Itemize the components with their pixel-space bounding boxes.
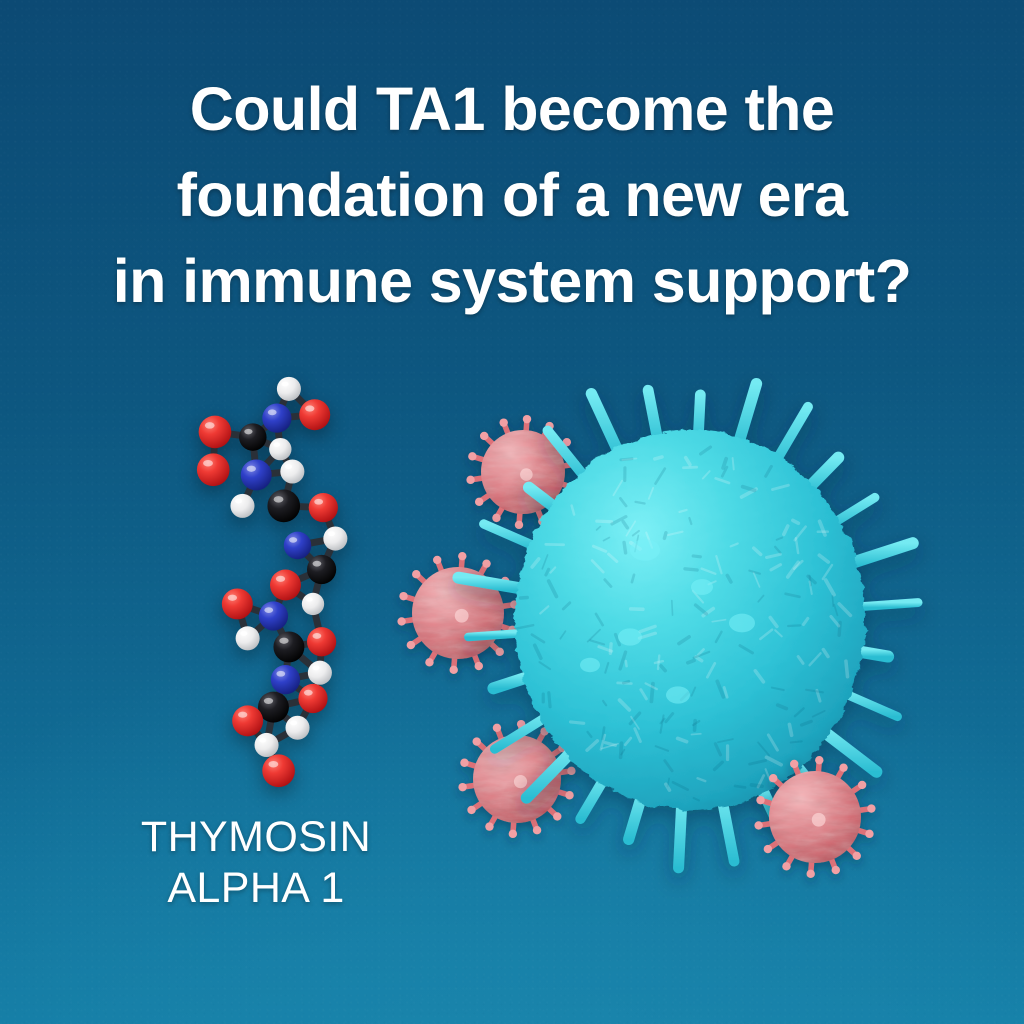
cell-surface-texture: [636, 502, 645, 504]
virus-spike-knob: [567, 767, 575, 775]
virus-spike-knob: [756, 796, 764, 804]
cell-surface-texture: [672, 601, 673, 616]
atom-nitrogen: [262, 404, 291, 433]
atom-hydrogen: [285, 716, 309, 740]
cell-surface-texture: [623, 681, 628, 683]
atom-hydrogen: [236, 626, 260, 650]
atom-highlight: [312, 665, 319, 670]
atom-hydrogen: [230, 494, 254, 518]
headline-line-1: Could TA1 become the: [34, 66, 990, 152]
cell-surface-texture: [621, 459, 632, 460]
atom-highlight: [313, 633, 322, 639]
cell-surface-texture: [624, 542, 626, 552]
cell-surface-texture: [621, 743, 622, 757]
cell-surface-texture: [751, 785, 762, 786]
virus-spike-knob: [458, 783, 466, 791]
virus-surface-nub: [812, 813, 826, 827]
atom-oxygen: [232, 705, 263, 736]
virus-spike-knob: [425, 658, 433, 666]
atom-highlight: [205, 422, 215, 429]
cell-surface-nub: [691, 579, 713, 595]
virus-particle: [754, 756, 875, 878]
virus-spike-knob: [865, 830, 873, 838]
atom-highlight: [240, 631, 247, 636]
atom-oxygen: [197, 453, 230, 486]
cell-surface-texture: [626, 661, 627, 666]
atom-highlight: [279, 638, 288, 644]
atom-oxygen: [309, 493, 338, 522]
virus-spike-knob: [509, 830, 517, 838]
virus-spike-knob: [754, 821, 762, 829]
cell-surface-texture: [688, 660, 694, 662]
cell-surface-nub: [580, 658, 600, 672]
cell-surface-texture: [695, 721, 696, 730]
atom-nitrogen: [284, 532, 312, 560]
virus-spike-knob: [492, 514, 500, 522]
virus-spike-knob: [867, 804, 875, 812]
atom-hydrogen: [255, 733, 279, 757]
virus-spike-knob: [832, 866, 840, 874]
atom-oxygen: [299, 399, 330, 430]
cell-surface-texture: [832, 596, 833, 606]
atom-highlight: [305, 405, 314, 411]
virus-spike-knob: [473, 737, 481, 745]
atom-oxygen: [262, 754, 295, 787]
thymosin-alpha-1-molecule-icon: [150, 370, 390, 800]
atom-highlight: [235, 499, 242, 504]
cell-surface-texture: [683, 467, 696, 468]
virus-spike-knob: [496, 648, 504, 656]
atom-oxygen: [270, 570, 301, 601]
virus-spike-knob: [433, 556, 441, 564]
atom-highlight: [228, 595, 237, 601]
virus-spike-knob: [407, 641, 415, 649]
cell-surface-texture: [655, 457, 662, 459]
atom-oxygen: [199, 416, 232, 449]
cell-surface-nub: [618, 628, 642, 645]
headline-line-3: in immune system support?: [34, 238, 990, 324]
atom-highlight: [247, 466, 256, 472]
atom-highlight: [264, 698, 273, 704]
atom-hydrogen: [280, 459, 304, 483]
cell-surface-texture: [733, 458, 734, 469]
atom-highlight: [328, 531, 335, 536]
cell-surface-nub: [729, 614, 755, 633]
atom-nitrogen: [259, 601, 288, 630]
virus-spike-knob: [397, 617, 405, 625]
atom-hydrogen: [269, 438, 291, 460]
virus-spike-knob: [468, 452, 476, 460]
virus-spike-knob: [493, 724, 501, 732]
atom-highlight: [276, 671, 285, 677]
atom-highlight: [285, 464, 292, 469]
virus-spike-knob: [475, 498, 483, 506]
atom-oxygen: [298, 684, 327, 713]
virus-spike-knob: [475, 662, 483, 670]
atom-hydrogen: [277, 377, 301, 401]
headline-line-2: foundation of a new era: [34, 152, 990, 238]
cell-surface-texture: [846, 661, 848, 676]
virus-spike-knob: [485, 822, 493, 830]
cell-surface-texture: [685, 569, 697, 570]
virus-spike-knob: [466, 476, 474, 484]
cell-surface-nub: [630, 539, 660, 561]
atom-highlight: [313, 561, 322, 567]
atom-highlight: [314, 499, 323, 505]
virus-spike-knob: [523, 415, 531, 423]
atom-highlight: [290, 721, 297, 726]
caption-line-2: ALPHA 1: [108, 863, 404, 914]
virus-surface-nub: [520, 468, 533, 481]
atom-oxygen: [307, 627, 336, 656]
atom-carbon: [307, 555, 336, 584]
atom-nitrogen: [271, 665, 300, 694]
cell-surface-texture: [735, 786, 745, 788]
virus-spike-knob: [499, 418, 507, 426]
virus-spike-knob: [764, 845, 772, 853]
atom-highlight: [264, 607, 273, 613]
virus-spike-knob: [480, 432, 488, 440]
virus-surface-nub: [455, 609, 469, 623]
virus-spike-knob: [533, 826, 541, 834]
immune-cell-membrane: [515, 430, 865, 810]
headline: Could TA1 become the foundation of a new…: [0, 66, 1024, 324]
virus-spike-knob: [769, 774, 777, 782]
cell-surface-texture: [610, 644, 611, 654]
cell-surface-texture: [791, 741, 802, 742]
atom-highlight: [203, 460, 213, 467]
virus-surface-nub: [514, 775, 527, 788]
virus-spike-knob: [858, 781, 866, 789]
atom-highlight: [304, 690, 313, 696]
atom-hydrogen: [308, 661, 332, 685]
virus-spike-knob: [458, 552, 466, 560]
virus-spike-knob: [515, 521, 523, 529]
molecule-caption: THYMOSIN ALPHA 1: [108, 812, 404, 914]
atom-highlight: [268, 409, 277, 415]
cell-surface-texture: [664, 533, 666, 539]
cell-surface-texture: [789, 724, 791, 735]
atom-highlight: [244, 429, 252, 435]
cell-surface-texture: [597, 521, 612, 522]
atom-highlight: [274, 496, 284, 503]
virus-spike-knob: [553, 812, 561, 820]
virus-spike-knob: [790, 760, 798, 768]
virus-spike-knob: [853, 852, 861, 860]
immune-cell-and-viruses-illustration: [390, 365, 990, 910]
atom-hydrogen: [323, 527, 347, 551]
atom-carbon: [239, 423, 267, 451]
virus-spike-knob: [449, 666, 457, 674]
virus-spike-knob: [565, 791, 573, 799]
atom-carbon: [267, 490, 300, 523]
poster-canvas: Could TA1 become the foundation of a new…: [0, 0, 1024, 1024]
virus-spike-knob: [399, 592, 407, 600]
atom-carbon: [273, 631, 304, 662]
atom-highlight: [273, 442, 280, 446]
atom-highlight: [281, 382, 288, 387]
atom-highlight: [276, 576, 285, 582]
cell-surface-texture: [571, 722, 584, 723]
virus-spike-knob: [467, 806, 475, 814]
atom-highlight: [306, 597, 313, 601]
cell-surface-texture: [549, 693, 550, 707]
atom-highlight: [238, 712, 247, 718]
virus-group-front: [754, 756, 875, 878]
atom-hydrogen: [302, 593, 324, 615]
cell-surface-texture: [788, 625, 800, 626]
virus-spike-knob: [782, 862, 790, 870]
virus-particle: [397, 552, 518, 674]
virus-spike-knob: [815, 756, 823, 764]
atom-highlight: [259, 738, 266, 743]
cell-surface-texture: [692, 734, 701, 735]
atom-highlight: [289, 537, 297, 543]
caption-line-1: THYMOSIN: [108, 812, 404, 863]
cell-surface-nub: [666, 686, 690, 703]
virus-spike-knob: [482, 559, 490, 567]
atom-nitrogen: [241, 459, 272, 490]
virus-spike-knob: [412, 570, 420, 578]
cell-surface-texture: [693, 556, 700, 557]
immune-cell-body: [515, 430, 865, 810]
virus-spike-knob: [460, 759, 468, 767]
atom-highlight: [268, 761, 278, 768]
virus-spike-knob: [806, 870, 814, 878]
atom-oxygen: [222, 588, 253, 619]
virus-spike-knob: [839, 763, 847, 771]
